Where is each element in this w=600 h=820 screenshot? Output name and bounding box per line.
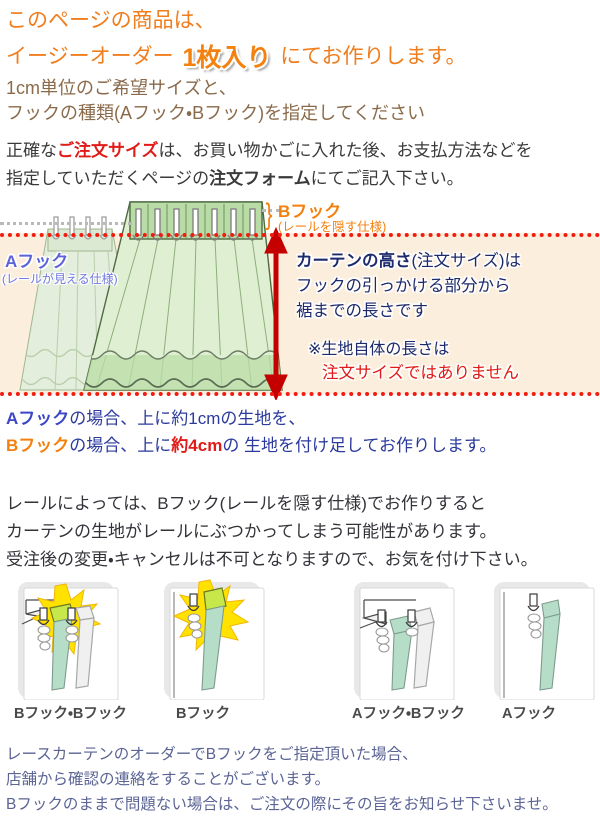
height-desc-line-1: カーテンの高さ(注文サイズ)は xyxy=(296,247,521,271)
intro-header: このページの商品は、 イージーオーダー 1枚入り にてお作りします。 1cm単位… xyxy=(0,0,600,195)
order-size-highlight: ご注文サイズ xyxy=(57,141,159,160)
rail-level-dotted-line xyxy=(0,222,132,225)
lace-curtain-footnote: レースカーテンのオーダーでBフックをご指定頂いた場合、 店舗から確認の連絡をする… xyxy=(0,742,600,820)
intro-line-1: このページの商品は、 xyxy=(6,4,216,34)
size-instruction-line-2: フックの種類(Aフック・Bフック)を指定してください xyxy=(6,99,425,125)
curtain-height-term: カーテンの高さ xyxy=(296,252,412,270)
caution-line-2: カーテンの生地がレールにぶつかってしまう可能性があります。 xyxy=(6,517,496,542)
b-hook-allowance-line: Bフックの場合、上に約4cmの 生地を付け足してお作りします。 xyxy=(6,431,496,456)
figure-a-b-hook: Aフック・Bフック xyxy=(350,578,458,700)
footnote-line-3: Bフックのままで問題ない場合は、ご注文の際にその旨をお知らせ下さいませ。 xyxy=(6,792,558,814)
figure-a-hook-caption: Aフック xyxy=(502,702,556,723)
a-hook-inline-label: Aフック xyxy=(6,409,69,428)
intro-line-2: イージーオーダー 1枚入り にてお作りします。 xyxy=(6,38,466,74)
one-panel-badge: 1枚入り xyxy=(179,38,274,74)
footnote-line-1: レースカーテンのオーダーでBフックをご指定頂いた場合、 xyxy=(6,742,418,764)
b-hook-allowance-value: 約4cm xyxy=(171,436,222,455)
a-hook-sublabel: (レールが見える仕様) xyxy=(2,270,118,287)
figure-a-hook: Aフック xyxy=(490,578,598,700)
a-hook-allowance-text: の場合、上に約1cmの生地を、 xyxy=(69,409,305,428)
figure-b-hook: Bフック xyxy=(160,578,268,700)
footnote-line-2: 店舗から確認の連絡をすることがございます。 xyxy=(6,767,330,789)
figure-b-b-hook-caption: Bフック・Bフック xyxy=(14,702,127,723)
figure-b-hook-illustration xyxy=(160,578,268,700)
order-note-prefix: 正確な xyxy=(6,141,57,160)
b-hook-allowance-text-2: の 生地を付け足してお作りします。 xyxy=(222,436,496,455)
figure-b-b-hook: Bフック・Bフック xyxy=(14,578,122,700)
b-hook-inline-label: Bフック xyxy=(6,436,69,455)
curtain-height-term-suffix: (注文サイズ)は xyxy=(412,252,522,270)
caution-line-1: レールによっては、Bフック(レールを隠す仕様)でお作りすると xyxy=(6,489,486,514)
figure-b-b-hook-illustration xyxy=(14,578,122,700)
order-note-line-1: 正確なご注文サイズは、お買い物かごに入れた後、お支払方法などを xyxy=(6,136,533,161)
fabric-note-line-2: 注文サイズではありません xyxy=(322,359,519,383)
figure-a-b-hook-illustration xyxy=(350,578,458,700)
order-form-highlight: 注文フォーム xyxy=(209,169,311,188)
height-desc-line-3: 裾までの長さです xyxy=(296,297,428,321)
a-hook-label: Aフック xyxy=(5,247,68,272)
order-note-suffix: は、お買い物かごに入れた後、お支払方法などを xyxy=(159,141,533,160)
figure-b-hook-caption: Bフック xyxy=(176,702,230,723)
b-hook-sublabel: (レールを隠す仕様) xyxy=(278,216,386,235)
hook-comparison-figures: Bフック・Bフック Bフック xyxy=(0,578,600,728)
fabric-note-line-1: ※生地自体の長さは xyxy=(308,335,449,359)
b-hook-allowance-text-1: の場合、上に xyxy=(69,436,171,455)
figure-a-hook-illustration xyxy=(490,578,598,700)
made-to-order-text: にてお作りします。 xyxy=(280,45,466,68)
order-form-suffix: にてご記入下さい。 xyxy=(311,169,464,188)
b-hook-brace: } xyxy=(266,200,273,230)
size-instruction-line-1: 1cm単位のご希望サイズと、 xyxy=(6,74,237,100)
a-hook-allowance-line: Aフックの場合、上に約1cmの生地を、 xyxy=(6,404,305,429)
figure-a-b-hook-caption: Aフック・Bフック xyxy=(352,702,465,723)
bottom-measure-dotted-line xyxy=(0,392,600,396)
caution-line-3: 受注後の変更・キャンセルは不可となりますので、お気を付け下さい。 xyxy=(6,545,538,570)
order-form-prefix: 指定していただくページの xyxy=(6,169,209,188)
order-note-line-2: 指定していただくページの注文フォームにてご記入下さい。 xyxy=(6,164,464,189)
easy-order-text: イージーオーダー xyxy=(6,45,174,68)
curtain-height-diagram: } Bフック (レールを隠す仕様) Aフック (レールが見える仕様) カーテンの… xyxy=(0,195,600,400)
height-desc-line-2: フックの引っかける部分から xyxy=(296,272,511,296)
hook-explanation-block: Aフックの場合、上に約1cmの生地を、 Bフックの場合、上に約4cmの 生地を付… xyxy=(0,400,600,575)
